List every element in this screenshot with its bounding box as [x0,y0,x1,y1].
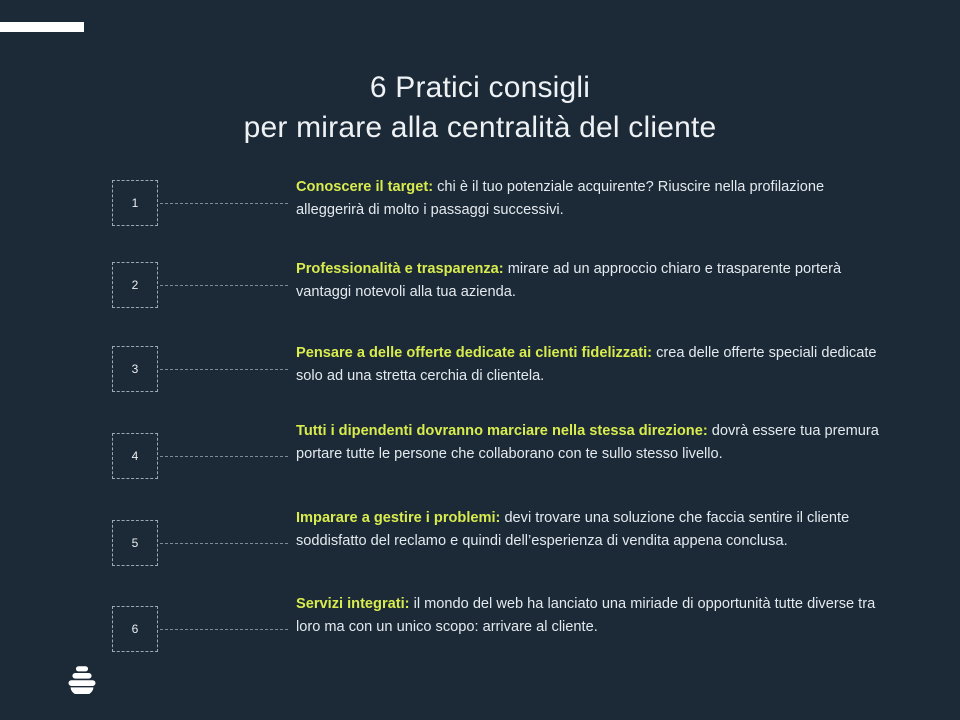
tip-lead-label: Servizi integrati: [296,596,410,612]
tip-text: Conoscere il target: chi è il tuo potenz… [296,176,896,222]
tip-text: Pensare a delle offerte dedicate ai clie… [296,342,896,388]
tip-number-box[interactable]: 1 [112,180,158,226]
tip-connector-line [160,285,288,286]
tip-lead-label: Professionalità e trasparenza: [296,261,504,277]
tip-number-box[interactable]: 2 [112,262,158,308]
tip-lead-label: Imparare a gestire i problemi: [296,510,500,526]
title-line-1: 6 Pratici consigli [0,68,960,108]
tip-connector-line [160,369,288,370]
page-title: 6 Pratici consigli per mirare alla centr… [0,68,960,148]
tip-number-box[interactable]: 6 [112,606,158,652]
tip-connector-line [160,456,288,457]
tip-number-box[interactable]: 3 [112,346,158,392]
tip-number-box[interactable]: 5 [112,520,158,566]
top-accent-bar [0,22,84,32]
stacked-stones-logo [68,664,96,694]
tip-text: Imparare a gestire i problemi: devi trov… [296,507,896,553]
tip-lead-label: Pensare a delle offerte dedicate ai clie… [296,345,652,361]
tip-connector-line [160,543,288,544]
tip-text: Servizi integrati: il mondo del web ha l… [296,593,896,639]
tip-connector-line [160,629,288,630]
slide-canvas: 6 Pratici consigli per mirare alla centr… [0,0,960,720]
tip-connector-line [160,203,288,204]
tip-lead-label: Tutti i dipendenti dovranno marciare nel… [296,423,708,439]
title-line-2: per mirare alla centralità del cliente [0,108,960,148]
tip-text: Tutti i dipendenti dovranno marciare nel… [296,420,896,466]
tip-text: Professionalità e trasparenza: mirare ad… [296,258,896,304]
tip-lead-label: Conoscere il target: [296,179,433,195]
tip-number-box[interactable]: 4 [112,433,158,479]
